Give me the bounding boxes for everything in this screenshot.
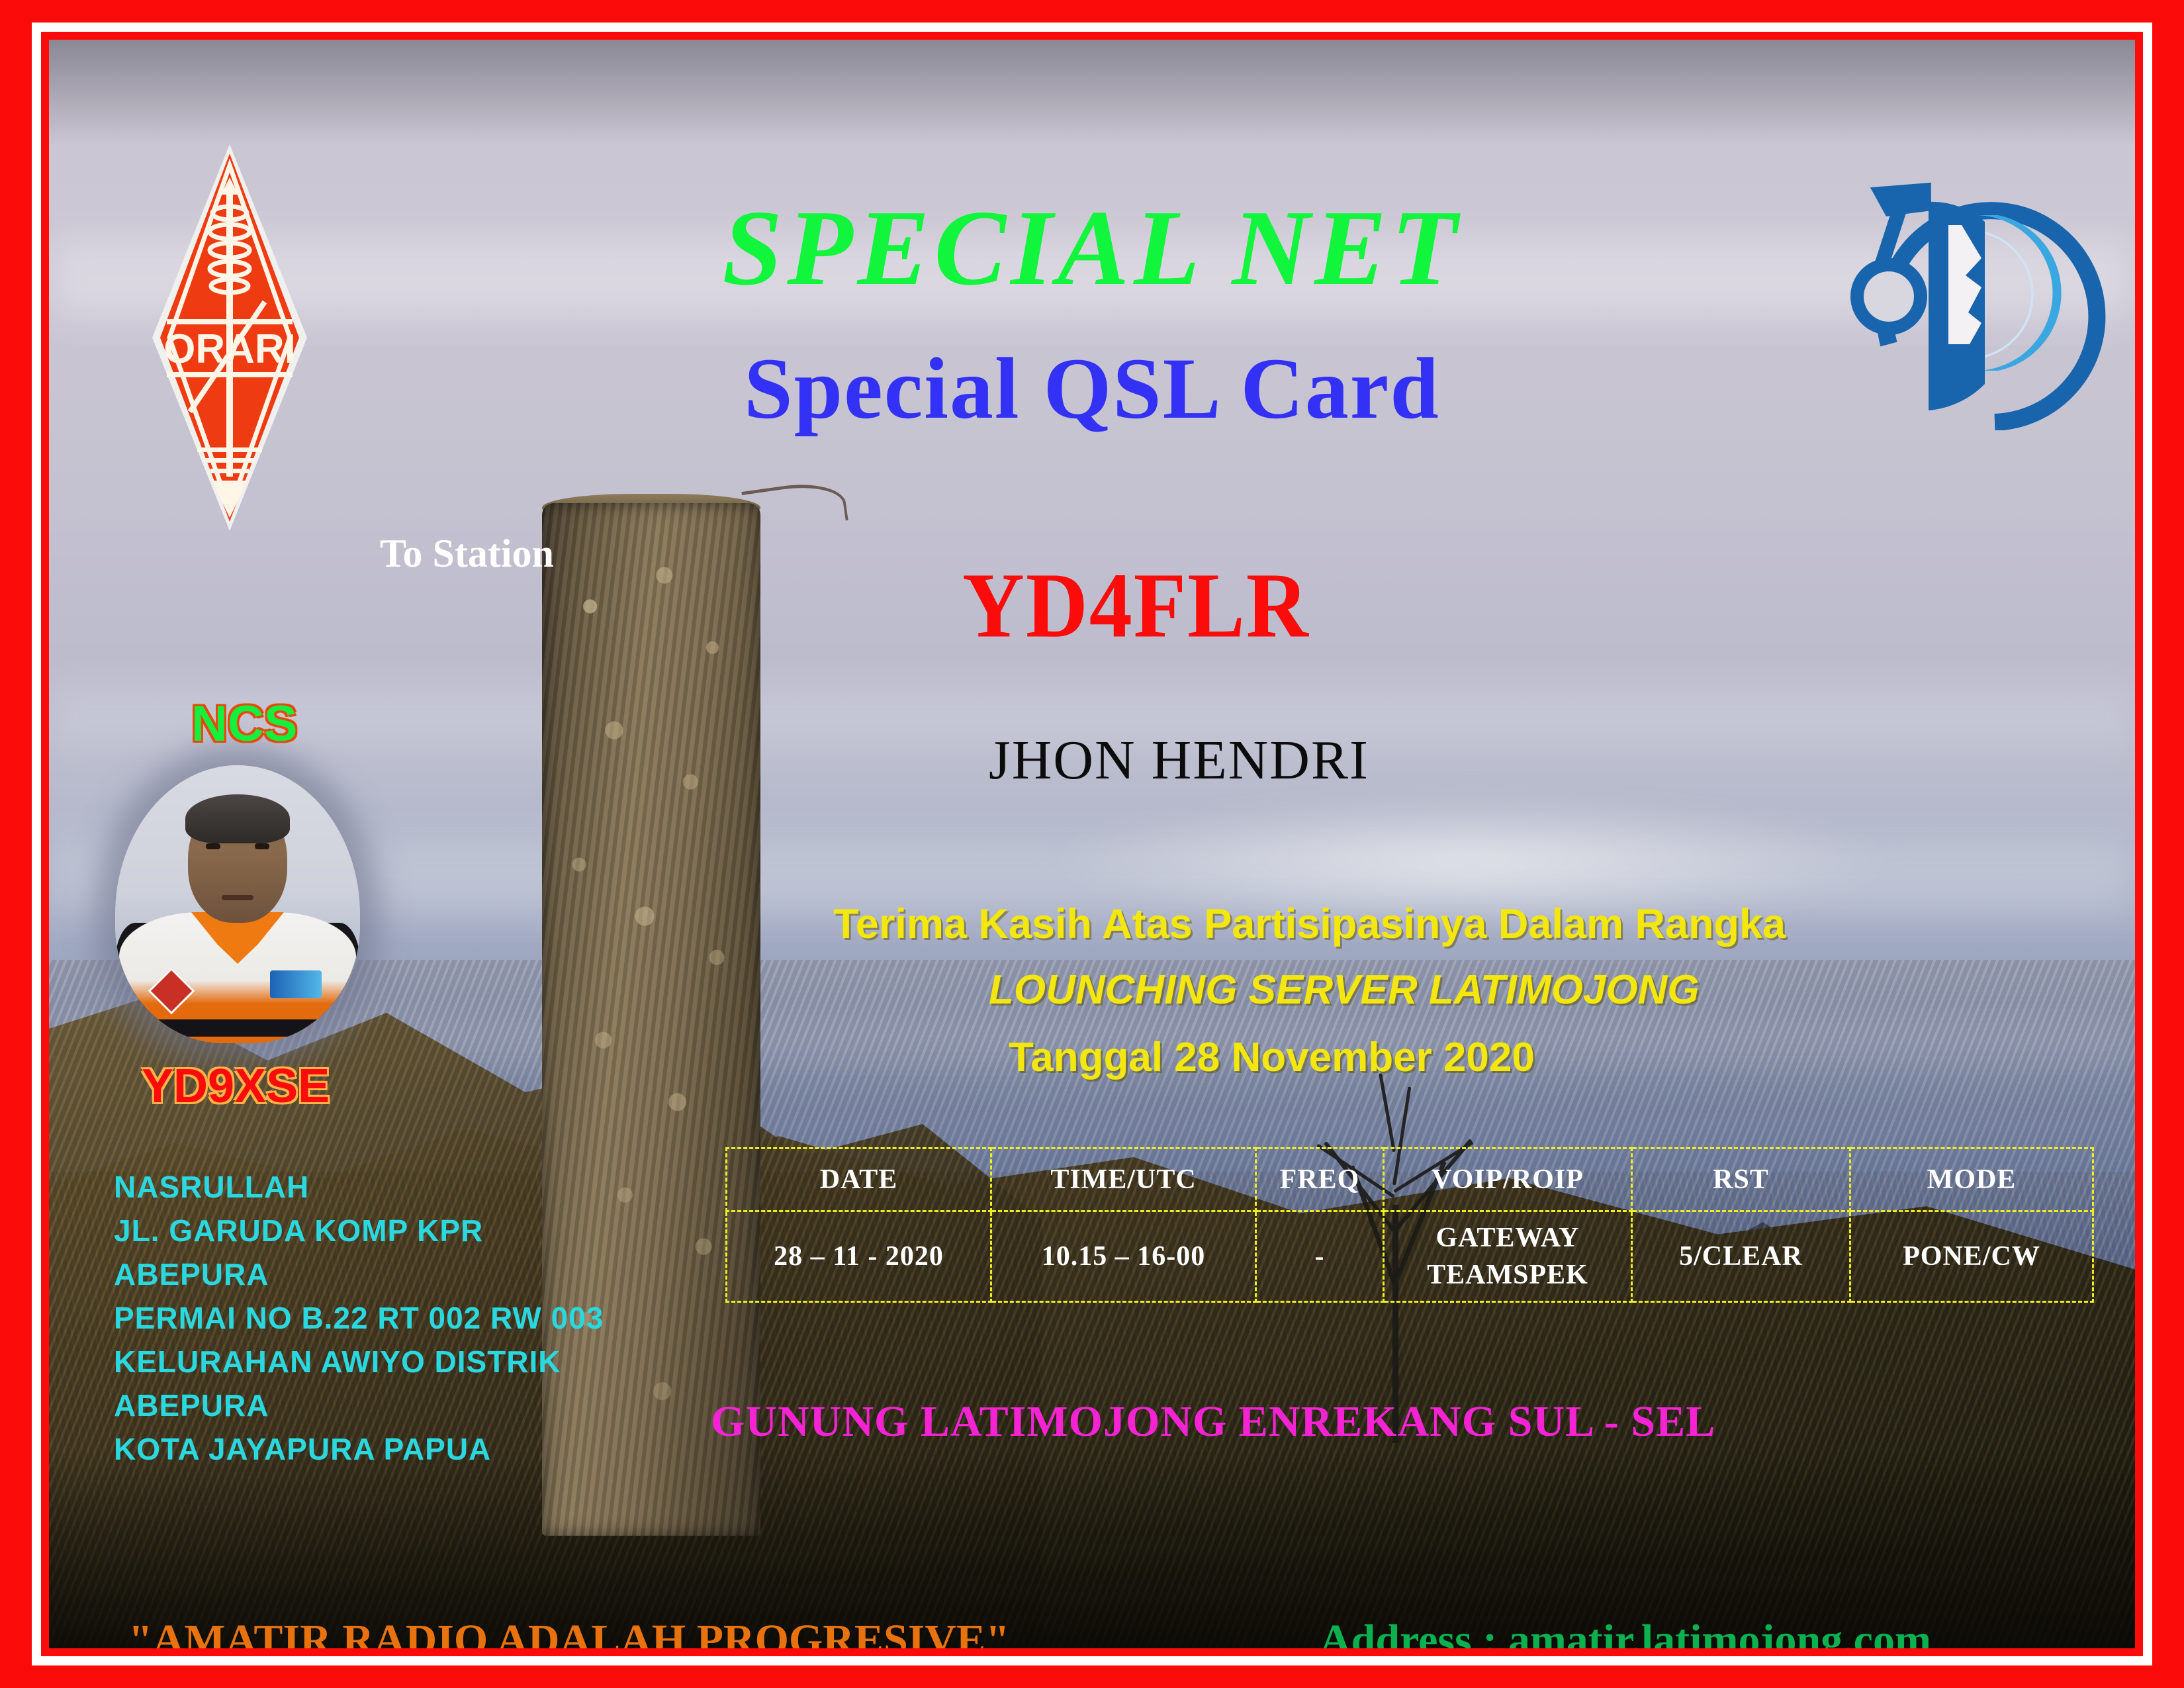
qso-details-table: DATE TIME/UTC FREQ VOIP/ROIP RST MODE 28… — [725, 1147, 2094, 1303]
footer-web-address: Address : amatir.latimojong.com — [1320, 1615, 1931, 1648]
cell-time: 10.15 – 16-00 — [991, 1211, 1256, 1302]
address-line: ABEPURA — [114, 1383, 604, 1427]
column-header-time: TIME/UTC — [991, 1149, 1256, 1211]
address-line: ABEPURA — [114, 1252, 604, 1296]
column-header-freq: FREQ — [1256, 1149, 1384, 1211]
cell-mode: PONE/CW — [1850, 1211, 2093, 1302]
column-header-mode: MODE — [1850, 1149, 2093, 1211]
address-line: PERMAI NO B.22 RT 002 RW 003 — [114, 1296, 604, 1340]
to-station-label: To Station — [380, 531, 554, 577]
address-line: JL. GARUDA KOMP KPR — [114, 1209, 604, 1252]
footer-slogan: "AMATIR RADIO ADALAH PROGRESIVE" — [128, 1615, 1010, 1648]
address-line: NASRULLAH — [114, 1165, 604, 1209]
cell-rst: 5/CLEAR — [1632, 1211, 1850, 1302]
page-subtitle: Special QSL Card — [49, 338, 2135, 439]
venue-label: GUNUNG LATIMOJONG ENREKANG SUL - SEL — [711, 1397, 1715, 1447]
cell-date: 28 – 11 - 2020 — [727, 1211, 991, 1302]
ncs-callsign: YD9XSE — [142, 1059, 330, 1113]
cell-voip: GATEWAY TEAMSPEK — [1384, 1211, 1632, 1302]
column-header-date: DATE — [727, 1149, 991, 1211]
address-line: KOTA JAYAPURA PAPUA — [114, 1427, 604, 1471]
thanks-line-1: Terima Kasih Atas Partisipasinya Dalam R… — [833, 900, 1786, 948]
station-operator-name: JHON HENDRI — [989, 728, 1369, 792]
station-callsign: YD4FLR — [962, 552, 1310, 659]
table-header-row: DATE TIME/UTC FREQ VOIP/ROIP RST MODE — [727, 1149, 2093, 1211]
ncs-operator-photo — [115, 765, 360, 1043]
page-title: SPECIAL NET — [49, 187, 2135, 310]
card-photo-area: ORARI — [49, 40, 2135, 1648]
thanks-line-3: Tanggal 28 November 2020 — [1009, 1034, 1535, 1081]
cell-voip-line2: TEAMSPEK — [1385, 1256, 1631, 1293]
address-line: KELURAHAN AWIYO DISTRIK — [114, 1340, 604, 1383]
sky-haze — [49, 40, 2135, 146]
qsl-card: ORARI — [0, 0, 2184, 1688]
cell-voip-line1: GATEWAY — [1385, 1219, 1631, 1256]
ncs-address-block: NASRULLAH JL. GARUDA KOMP KPR ABEPURA PE… — [114, 1165, 604, 1471]
column-header-voip: VOIP/ROIP — [1384, 1149, 1632, 1211]
ncs-label: NCS — [191, 695, 297, 753]
column-header-rst: RST — [1632, 1149, 1850, 1211]
thanks-line-2: LOUNCHING SERVER LATIMOJONG — [989, 966, 1700, 1013]
table-row: 28 – 11 - 2020 10.15 – 16-00 - GATEWAY T… — [727, 1211, 2093, 1302]
cell-freq: - — [1256, 1211, 1384, 1302]
